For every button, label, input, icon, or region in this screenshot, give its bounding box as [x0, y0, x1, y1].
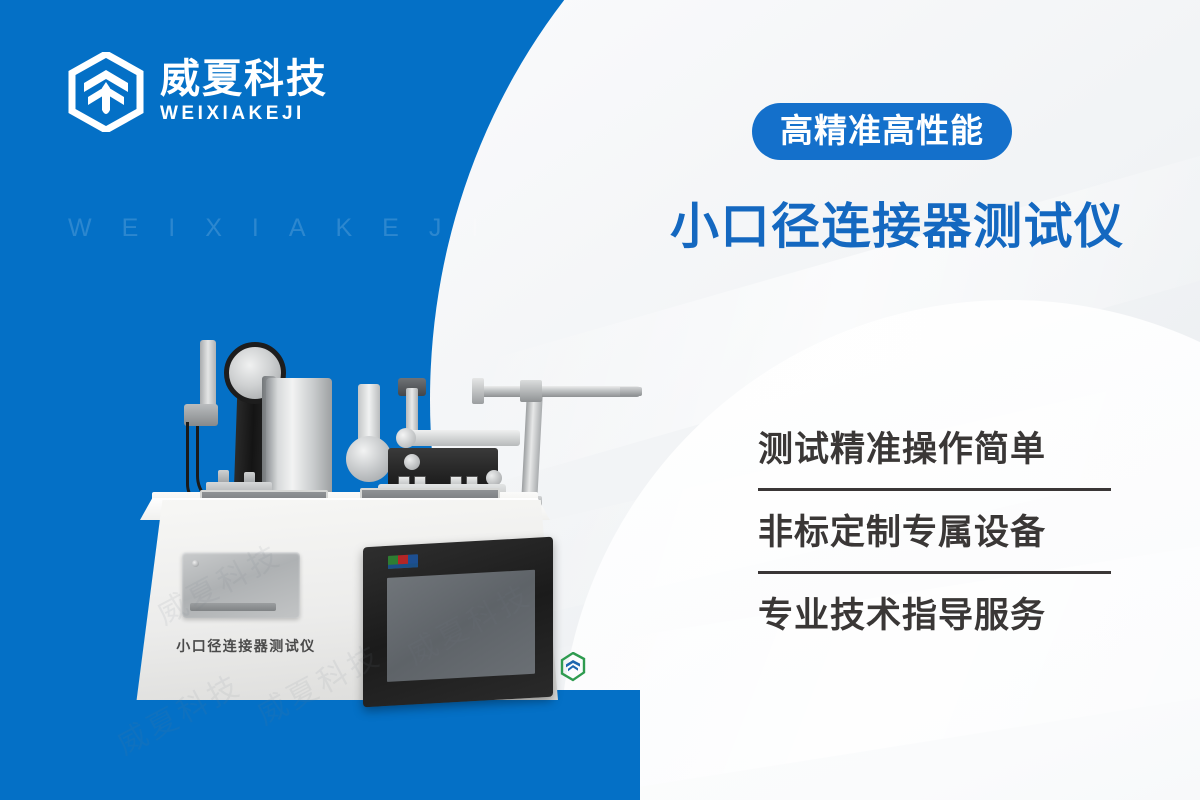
brand-logo: 威夏科技 WEIXIAKEJI [68, 52, 328, 132]
paddle-disc [346, 436, 392, 482]
page-title: 小口径连接器测试仪 [670, 199, 1125, 255]
product-front-label: 小口径连接器测试仪 [156, 636, 336, 656]
rail-knob [396, 428, 416, 448]
test-shaft [478, 386, 640, 397]
linear-rail [404, 430, 520, 446]
brand-name-cn: 威夏科技 [160, 58, 328, 100]
hexagon-arrow-logo-icon [68, 52, 144, 132]
shaft-nut [520, 380, 542, 402]
upright-post [406, 388, 418, 434]
panel-screw-icon [192, 560, 199, 567]
feature-item: 专业技术指导服务 [758, 590, 1113, 648]
feature-item: 非标定制专属设备 [758, 507, 1113, 565]
shaft-head [472, 378, 484, 404]
feature-item: 测试精准操作简单 [758, 424, 1113, 482]
background-watermark: WEIXIAKEJI [68, 214, 508, 243]
hmi-brand-logo-icon [388, 554, 418, 569]
feature-divider [758, 571, 1111, 574]
feature-list: 测试精准操作简单 非标定制专属设备 专业技术指导服务 [758, 424, 1113, 647]
motor-arm [200, 340, 216, 414]
product-banner: WEIXIAKEJI 威夏科技 WEIXIAKEJI 高精准高性能 小口径连接器… [0, 0, 1200, 800]
stage-knob [404, 454, 420, 470]
headline-badge: 高精准高性能 [752, 103, 1012, 160]
feature-divider [758, 488, 1111, 491]
brand-name-en: WEIXIAKEJI [160, 103, 328, 126]
weixia-badge-logo-icon [560, 651, 586, 682]
brand-logo-text: 威夏科技 WEIXIAKEJI [160, 58, 328, 126]
shaft-tip [620, 387, 642, 396]
